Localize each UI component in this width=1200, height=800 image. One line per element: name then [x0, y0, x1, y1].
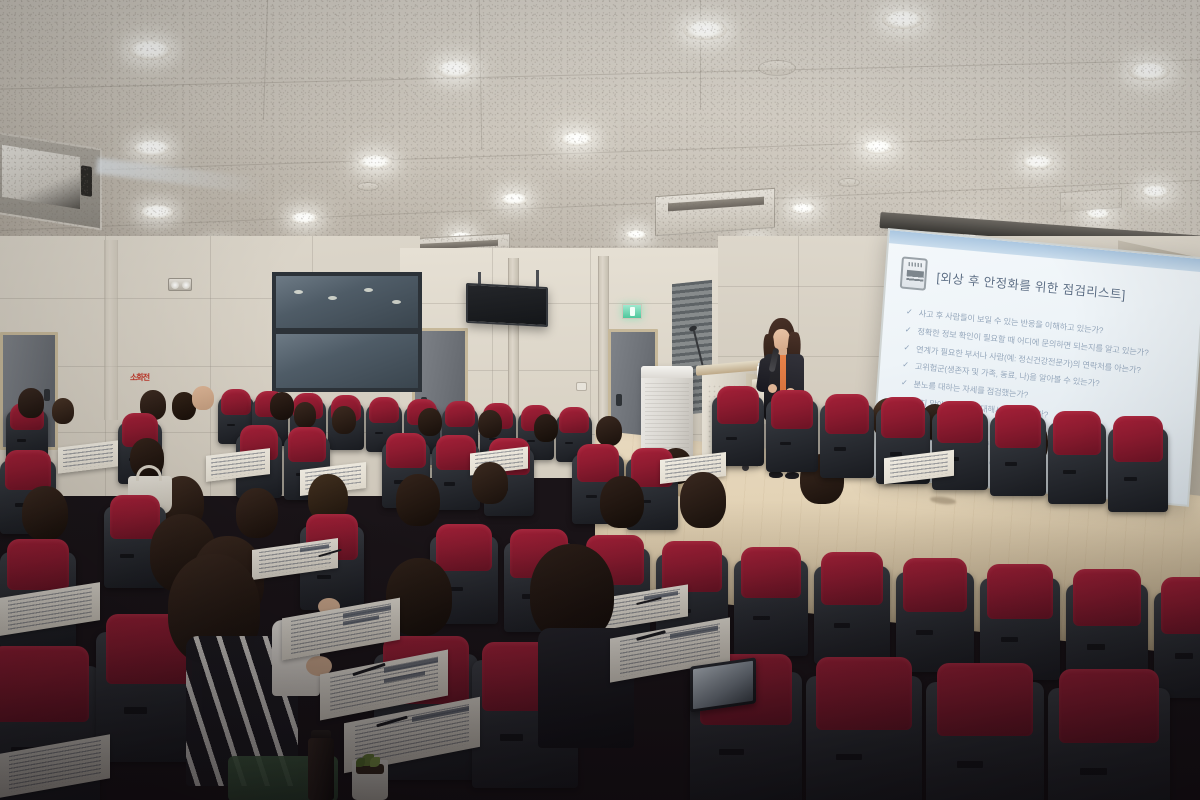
ac-vent-slats [668, 197, 764, 212]
monitor-bracket [536, 270, 539, 288]
seat[interactable] [990, 416, 1046, 496]
slide-title: [외상 후 안정화를 위한 점검리스트] [936, 266, 1126, 302]
projector-lens [2, 145, 80, 209]
ceiling-downlight [683, 20, 727, 40]
ceiling-downlight [1128, 62, 1170, 81]
ceiling-downlight [435, 60, 475, 78]
seat[interactable] [806, 676, 922, 800]
seat[interactable] [1048, 422, 1106, 504]
seat[interactable] [1154, 592, 1200, 698]
check-icon: ✓ [903, 344, 910, 353]
auditorium-seating [0, 376, 1200, 800]
ceiling-downlight [133, 140, 171, 156]
seat[interactable] [896, 572, 974, 672]
tablet-screen [693, 661, 753, 709]
small-potted-plant [352, 760, 388, 800]
seat[interactable] [1108, 428, 1168, 512]
audience-member [22, 486, 68, 540]
ceiling-ac-cassette [655, 188, 775, 236]
audience-member [534, 414, 558, 442]
control-room-window [272, 272, 422, 392]
audience-member [478, 410, 502, 438]
check-icon: ✓ [906, 308, 913, 317]
ceiling-downlight [1022, 155, 1054, 169]
emergency-light [168, 278, 192, 291]
seat[interactable] [766, 400, 818, 472]
ceiling-downlight [358, 155, 392, 169]
ceiling-downlight [140, 205, 174, 219]
lecture-hall-photo: 소화전 [외상 후 안정화를 위한 점검리스트] ✓ 사고 후 사람들이 보일 … [0, 0, 1200, 800]
seat[interactable] [734, 560, 808, 656]
clipboard-checklist-icon [900, 256, 928, 290]
audience-member [236, 488, 278, 538]
wall-mounted-monitor [466, 283, 548, 327]
ceiling-downlight [882, 10, 924, 29]
audience-member [332, 406, 356, 434]
check-icon: ✓ [902, 361, 909, 370]
ceiling-downlight [1085, 208, 1111, 219]
audience-member [680, 472, 726, 528]
ceiling-diffuser [758, 60, 796, 76]
folding-desk[interactable] [58, 440, 118, 473]
ceiling-downlight [862, 140, 894, 154]
audience-member [472, 462, 508, 504]
window-pane-upper [276, 276, 418, 328]
audience-member [600, 476, 644, 528]
audience-member [270, 392, 294, 420]
audience-member [18, 388, 44, 418]
projector-port [81, 165, 92, 197]
check-icon: ✓ [904, 326, 911, 335]
ceiling-downlight [290, 212, 318, 224]
ceiling-downlight [449, 232, 473, 242]
ceiling-downlight [790, 203, 816, 214]
ceiling-downlight [625, 230, 647, 239]
seat[interactable] [820, 404, 874, 478]
ceiling-downlight [128, 40, 172, 60]
ceiling-downlight [1140, 185, 1170, 198]
ceiling-speaker [357, 182, 379, 191]
audience-member [418, 408, 442, 436]
ceiling-projector [0, 131, 102, 230]
seat[interactable] [1048, 688, 1170, 800]
ceiling-speaker [838, 178, 860, 187]
seat[interactable] [814, 566, 890, 664]
emergency-exit-sign [622, 304, 642, 319]
tablet-device[interactable] [690, 657, 756, 712]
ceiling-downlight [560, 132, 594, 146]
audience-member [396, 474, 440, 526]
audience-member [192, 386, 214, 410]
audience-member [52, 398, 74, 424]
ceiling-access-panel [1060, 188, 1122, 212]
audience-member [596, 416, 622, 446]
seat[interactable] [926, 682, 1044, 800]
exit-running-man-icon [630, 307, 635, 316]
audience-member [294, 402, 316, 428]
dark-water-bottle [308, 738, 334, 800]
ceiling-downlight [500, 193, 528, 205]
